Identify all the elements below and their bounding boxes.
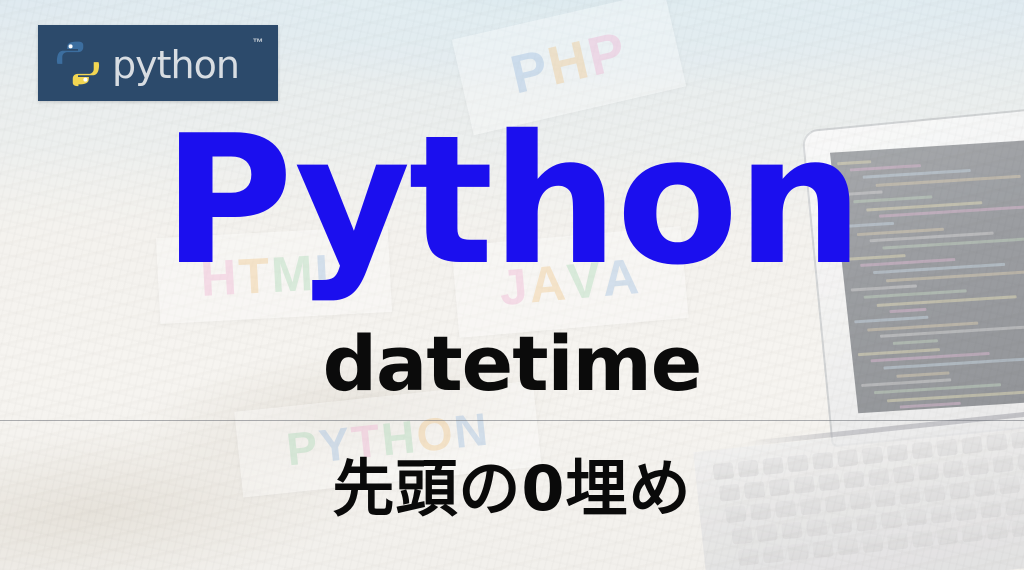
trademark-symbol: ™ [253, 37, 265, 49]
topic-subtitle: 先頭の0埋め [0, 454, 1024, 523]
section-divider [0, 420, 1024, 421]
python-wordmark: python [112, 46, 239, 84]
thumbnail-canvas: PHP HTML JAVA PYTHON python ™ Python dat… [0, 0, 1024, 570]
module-title: datetime [0, 326, 1024, 402]
watermark-text-php: PHP [505, 20, 633, 107]
python-logo-badge: python ™ [38, 25, 278, 101]
page-title: Python [0, 112, 1024, 290]
python-snakes-icon [54, 39, 102, 87]
